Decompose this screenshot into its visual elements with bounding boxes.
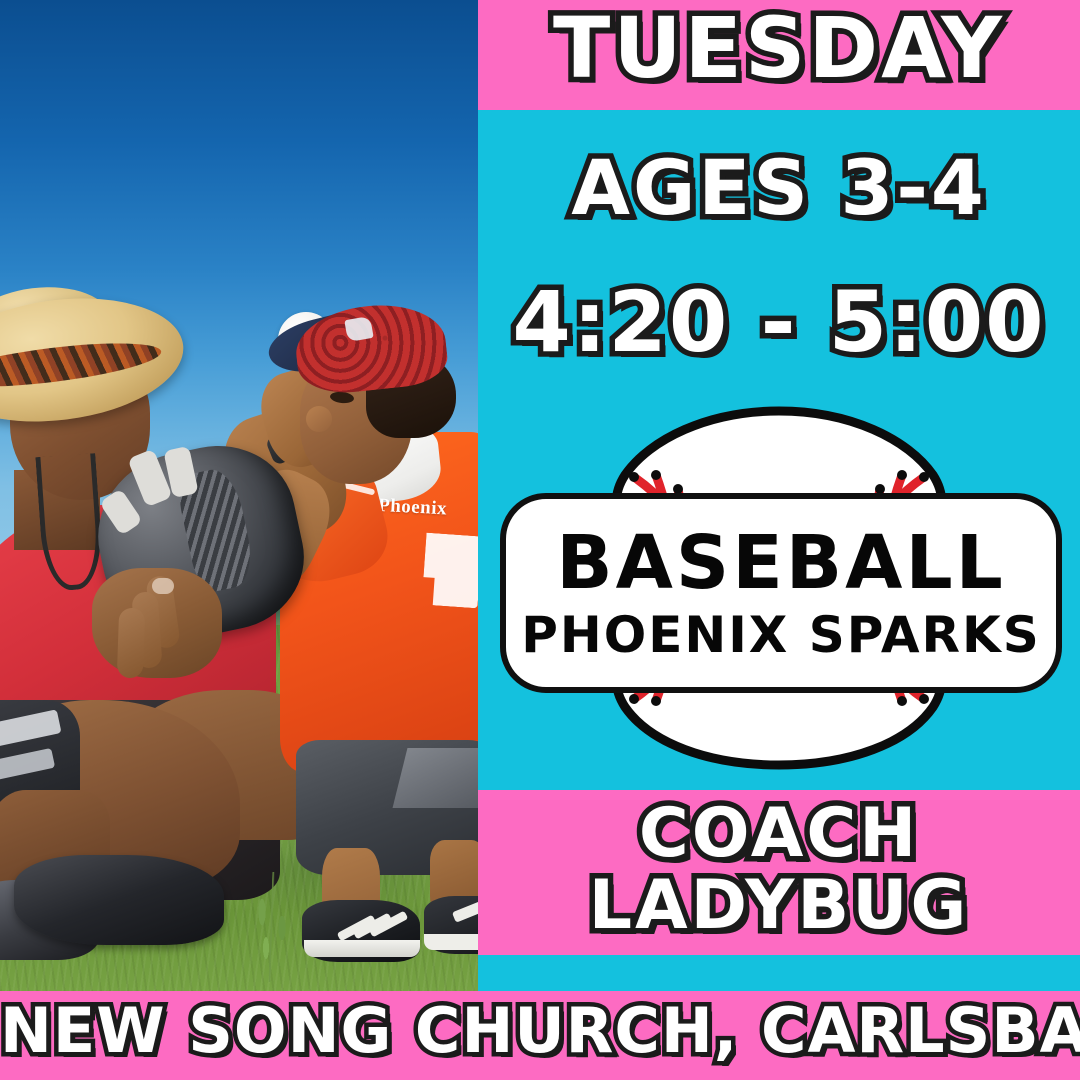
logo-banner: BASEBALL PHOENIX SPARKS	[500, 493, 1062, 693]
baseball-logo: BASEBALL PHOENIX SPARKS	[478, 405, 1080, 770]
cyan-band-thin	[478, 955, 1080, 991]
coach-and-child-baseball-photo: Phoenix	[0, 0, 478, 991]
time-heading: 4:20 - 5:00	[478, 280, 1080, 364]
coach-name: LADYBUG	[478, 872, 1080, 940]
sneaker-sole	[424, 934, 478, 950]
ages-heading: AGES 3-4	[478, 150, 1080, 226]
cap-logo	[344, 316, 373, 342]
logo-title: BASEBALL	[556, 526, 1006, 600]
sneaker-sole	[304, 940, 420, 957]
child-nose	[306, 406, 332, 432]
grass-weed	[252, 872, 292, 982]
coach-label: COACH	[478, 800, 1080, 868]
coach-finger	[117, 608, 145, 679]
coach-fingernail	[152, 578, 174, 594]
poster-canvas: Phoenix	[0, 0, 1080, 1080]
shorts-stripe	[393, 748, 478, 808]
day-heading: TUESDAY	[478, 6, 1080, 90]
logo-subtitle: PHOENIX SPARKS	[521, 610, 1041, 660]
sneaker-icon	[14, 855, 224, 945]
venue-text: NEW SONG CHURCH, CARLSBAD	[0, 1000, 1080, 1062]
